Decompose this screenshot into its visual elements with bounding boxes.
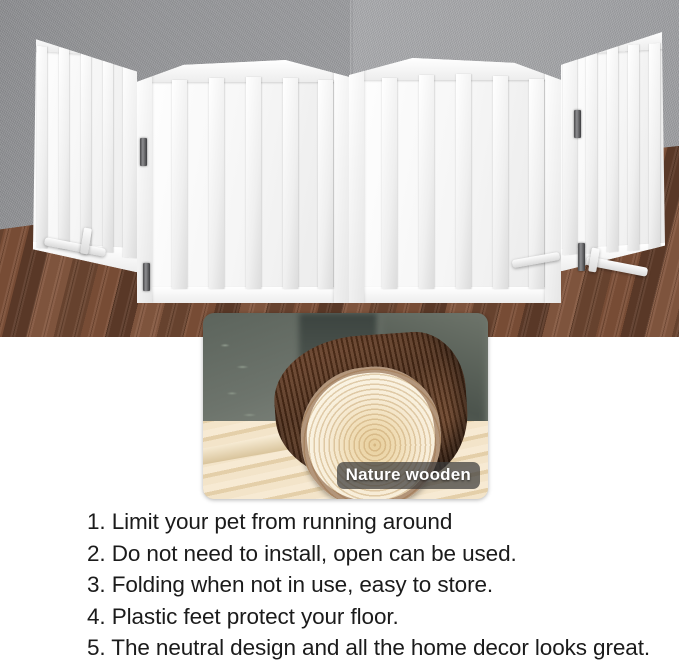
slat [628, 44, 639, 251]
gate-panel-3 [349, 58, 561, 303]
gate-panel-4 [561, 25, 665, 272]
feature-item-4: 4. Plastic feet protect your floor. [87, 601, 667, 633]
slat [59, 47, 69, 250]
slat [81, 49, 91, 252]
slat [419, 75, 434, 289]
panel-3-slats [349, 58, 561, 303]
slat [172, 80, 187, 289]
slat [456, 74, 471, 289]
slat [649, 43, 660, 250]
feature-item-2: 2. Do not need to install, open can be u… [87, 538, 667, 570]
gate-hinge-bottom-right [578, 243, 585, 271]
feature-list: 1. Limit your pet from running around 2.… [87, 506, 667, 664]
gate-hinge-top-right [574, 110, 581, 138]
slat [493, 76, 508, 289]
feature-item-3: 3. Folding when not in use, easy to stor… [87, 569, 667, 601]
gate-hinge-top-left [140, 138, 147, 166]
slat [246, 77, 261, 289]
feature-item-5: 5. The neutral design and all the home d… [87, 632, 667, 664]
slat [318, 80, 333, 289]
slat [283, 78, 298, 289]
slat [586, 47, 597, 254]
slat [37, 46, 47, 249]
slat [382, 78, 397, 289]
pet-gate-hero-photo [0, 0, 679, 337]
feature-item-1: 1. Limit your pet from running around [87, 506, 667, 538]
slat [209, 78, 224, 289]
nature-wooden-badge: Nature wooden [337, 462, 480, 489]
slat [103, 50, 113, 253]
gate-panel-2 [137, 60, 349, 303]
panel-2-slats [137, 60, 349, 303]
slat [563, 46, 577, 255]
gate-hinge-bottom-left [143, 263, 150, 291]
nature-wood-inset-photo: Nature wooden [203, 313, 488, 499]
panel-4-slats [561, 25, 665, 272]
slat [123, 49, 137, 258]
slat [607, 46, 618, 253]
